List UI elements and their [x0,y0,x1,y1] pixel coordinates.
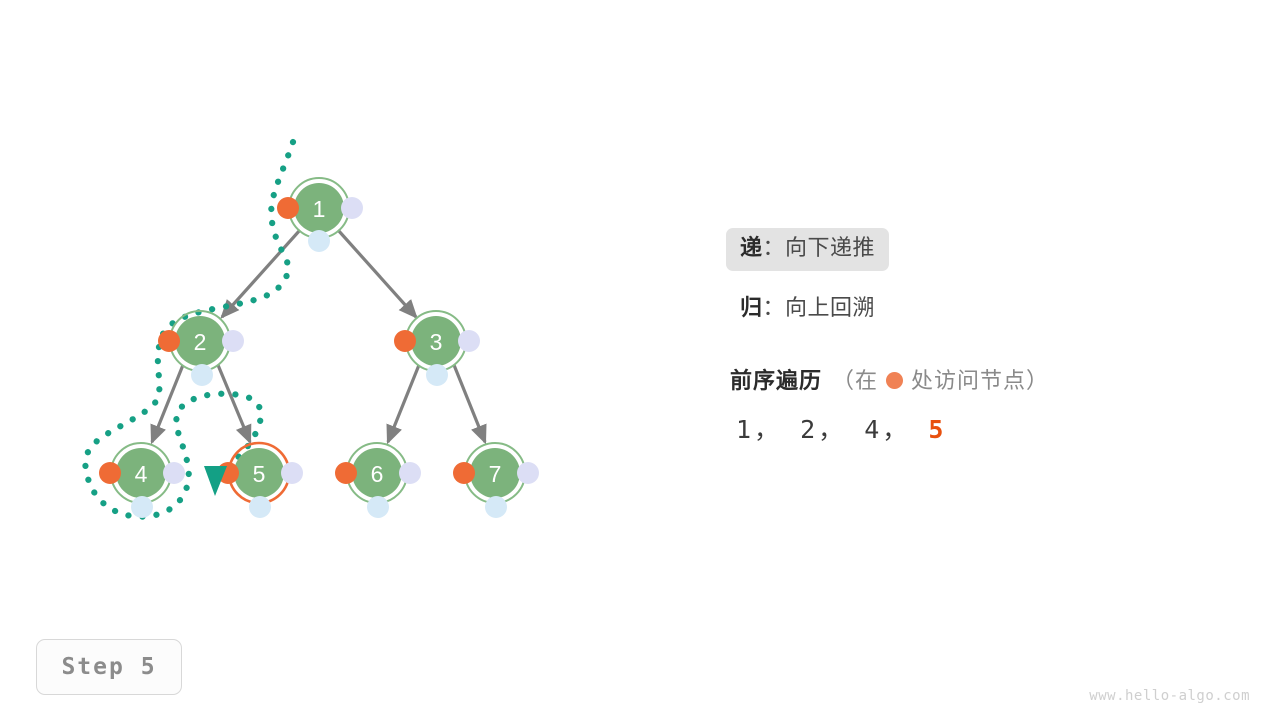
node-7-preorder-dot [453,462,475,484]
node-3-postorder-dot [426,364,448,386]
node-6-postorder-dot [367,496,389,518]
tree-node-4[interactable]: 4 [99,443,185,518]
step-badge-label: Step 5 [61,654,156,680]
edge-3-7 [454,365,485,442]
node-1-label: 1 [313,196,326,222]
node-4-postorder-dot [131,496,153,518]
node-5-postorder-dot [249,496,271,518]
traversal-sequence-prefix: 1， 2， 4， [736,415,910,444]
tree-node-3[interactable]: 3 [394,311,480,386]
traversal-order-paren-close: 处访问节点） [911,363,1049,395]
node-1-preorder-dot [277,197,299,219]
traversal-order-paren-open: （在 [832,363,878,395]
legend-row-descend: 递：向下递推 [726,228,889,271]
node-2-preorder-dot [158,330,180,352]
traversal-order-name: 前序遍历 [730,363,822,395]
diagram-canvas: 1 2 3 4 [0,0,1280,720]
tree-node-5[interactable]: 5 [217,443,303,518]
node-3-preorder-dot [394,330,416,352]
node-4-preorder-dot [99,462,121,484]
node-4-inorder-dot [163,462,185,484]
node-1-inorder-dot [341,197,363,219]
node-3-label: 3 [430,329,443,355]
node-3-inorder-dot [458,330,480,352]
legend-descend-rest: ：向下递推 [763,235,876,260]
node-6-inorder-dot [399,462,421,484]
node-6-preorder-dot [335,462,357,484]
node-1-postorder-dot [308,230,330,252]
node-5-inorder-dot [281,462,303,484]
legend-descend-strong: 递 [740,235,763,260]
edge-3-6 [388,365,419,442]
legend-ascend-strong: 归 [740,295,763,320]
legend-row-ascend: 归：向上回溯 [726,288,889,331]
node-7-label: 7 [489,461,502,487]
node-2-inorder-dot [222,330,244,352]
tree-node-6[interactable]: 6 [335,443,421,518]
traversal-sequence: 1， 2， 4， 5 [736,410,946,446]
preorder-dot-icon [886,372,903,389]
edge-2-5 [218,365,250,442]
edge-1-3 [338,230,416,317]
node-4-label: 4 [135,461,148,487]
traversal-order-title: 前序遍历 （在 处访问节点） [730,363,1049,395]
node-7-inorder-dot [517,462,539,484]
traversal-sequence-current: 5 [928,415,946,444]
node-2-label: 2 [194,329,207,355]
tree-node-7[interactable]: 7 [453,443,539,518]
node-7-postorder-dot [485,496,507,518]
node-2-postorder-dot [191,364,213,386]
step-badge: Step 5 [36,639,182,695]
binary-tree-diagram: 1 2 3 4 [0,0,640,600]
watermark: www.hello-algo.com [1089,688,1250,704]
node-5-label: 5 [253,461,266,487]
legend-ascend-rest: ：向上回溯 [763,295,876,320]
node-6-label: 6 [371,461,384,487]
